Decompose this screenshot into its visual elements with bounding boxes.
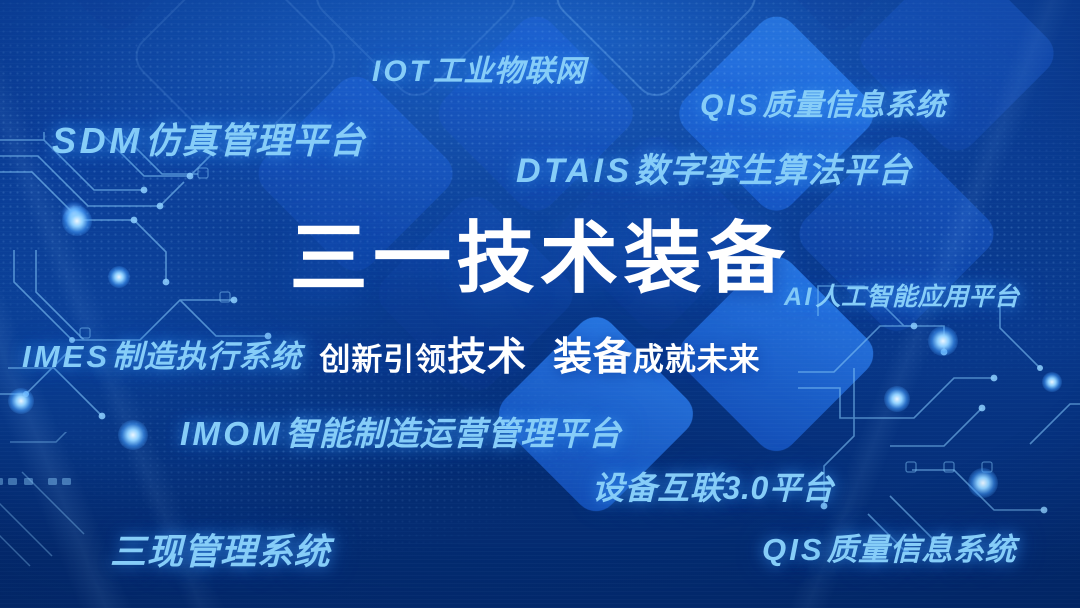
page-subtitle: 创新引领技术装备成就未来	[0, 326, 1080, 382]
bg-tile	[9, 0, 221, 39]
keyword-latin: SDM	[52, 120, 143, 161]
keyword-cn: 仿真管理平台	[145, 120, 365, 161]
keyword-cn: 质量信息系统	[762, 89, 946, 122]
glow-node	[884, 386, 910, 412]
bg-tile	[730, 0, 942, 39]
subtitle-part-1: 创新引领	[319, 342, 447, 377]
subtitle-emphasis-1: 技术	[447, 336, 527, 379]
keyword-latin: QIS	[762, 532, 825, 567]
subtitle-part-3: 成就未来	[633, 342, 761, 377]
keyword-latin: IOT	[372, 55, 431, 88]
glow-node	[8, 388, 34, 414]
keyword-cn: 质量信息系统	[827, 532, 1017, 567]
subtitle-emphasis-2: 装备	[553, 336, 633, 379]
keyword-iot: IOT工业物联网	[372, 46, 586, 90]
keyword-latin: QIS	[700, 89, 761, 122]
keyword-latin: DTAIS	[516, 152, 632, 190]
keyword-qis-bottom: QIS质量信息系统	[762, 524, 1016, 569]
keyword-sanxian: 三现管理系统	[110, 523, 330, 575]
keyword-dtais: DTAIS数字孪生算法平台	[516, 143, 912, 192]
poster-canvas: IOT工业物联网 QIS质量信息系统 SDM仿真管理平台 DTAIS数字孪生算法…	[0, 0, 1080, 608]
keyword-cn: 工业物联网	[433, 55, 586, 88]
glow-node	[968, 468, 998, 498]
keyword-sdm: SDM仿真管理平台	[52, 112, 365, 164]
keyword-cn: 三现管理系统	[110, 531, 330, 572]
keyword-cn: 智能制造运营管理平台	[285, 415, 622, 452]
keyword-latin: IMOM	[180, 415, 283, 452]
keyword-device-interconnect: 设备互联3.0平台	[592, 463, 834, 509]
keyword-qis-top: QIS质量信息系统	[700, 80, 946, 124]
page-title: 三一技术装备	[0, 196, 1080, 308]
keyword-imom: IMOM智能制造运营管理平台	[180, 407, 622, 455]
keyword-cn: 设备互联3.0平台	[592, 470, 834, 506]
circuit-trace-bottom-left	[0, 432, 252, 608]
keyword-cn: 数字孪生算法平台	[635, 152, 912, 190]
